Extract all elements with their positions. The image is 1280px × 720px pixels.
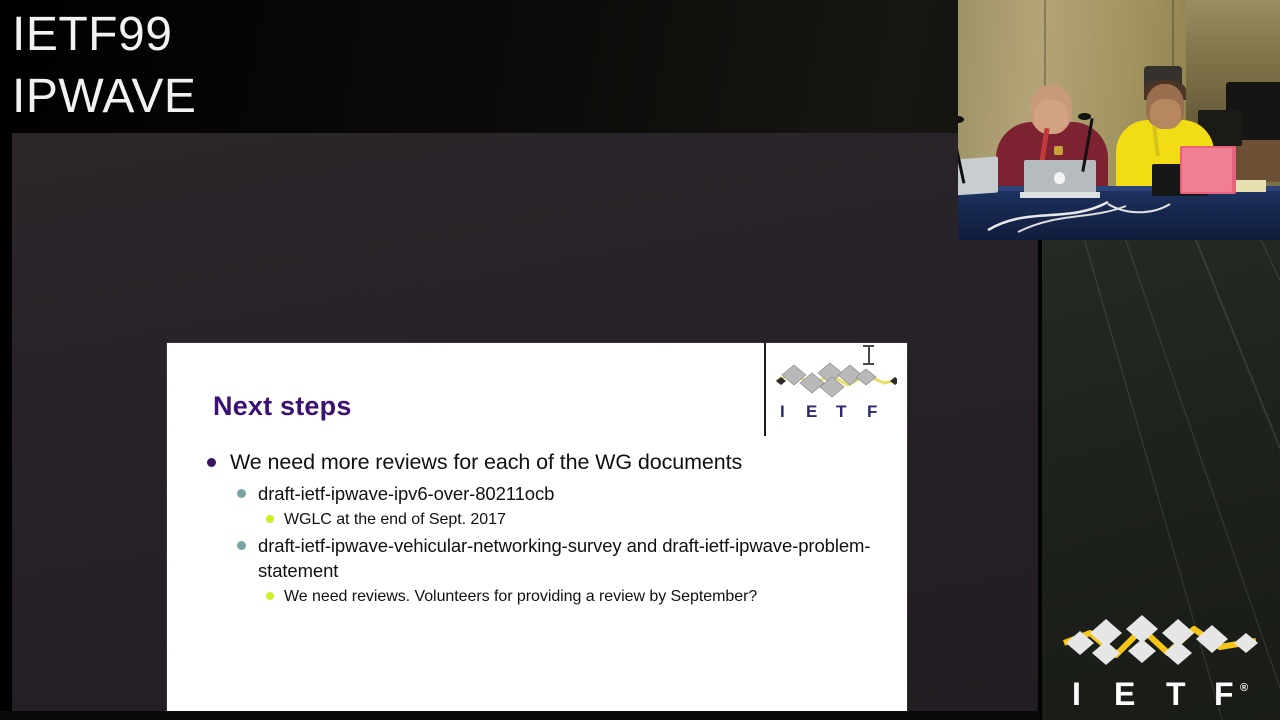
bullet-item: We need reviews. Volunteers for providin… [266, 585, 897, 608]
svg-text:T: T [1166, 676, 1187, 712]
page-title: IETF99 IPWAVE [12, 4, 196, 128]
svg-text:E: E [806, 402, 817, 421]
ietf-logo-icon: I E T F [772, 355, 897, 423]
bullet-marker-level2 [237, 489, 246, 498]
svg-text:F: F [867, 402, 877, 421]
apple-logo-icon [1054, 172, 1065, 184]
screen-root: IETF99 IPWAVE [0, 0, 1280, 720]
slide-logo-divider [764, 343, 766, 436]
presentation-slide[interactable]: I E T F Next steps We need more reviews … [167, 343, 907, 720]
bullet-text: WGLC at the end of Sept. 2017 [284, 508, 506, 531]
svg-text:E: E [1114, 676, 1136, 712]
svg-text:®: ® [1240, 682, 1249, 694]
ietf-brand-logo-icon: I E T F ® [1060, 607, 1265, 712]
bullet-item: draft-ietf-ipwave-ipv6-over-80211ocb [237, 481, 897, 506]
bullet-marker-level1 [207, 458, 216, 467]
slide-title: Next steps [213, 391, 352, 422]
bullet-item: draft-ietf-ipwave-vehicular-networking-s… [237, 533, 897, 583]
bullet-marker-level3 [266, 515, 274, 523]
presenter-two-face [1150, 99, 1181, 129]
panel-bottom-edge [0, 711, 1040, 720]
presenter-one-shirt-logo [1054, 146, 1063, 155]
cables [958, 190, 1280, 234]
bullet-text: draft-ietf-ipwave-ipv6-over-80211ocb [258, 481, 554, 506]
svg-text:F: F [1214, 676, 1235, 712]
bullet-item: WGLC at the end of Sept. 2017 [266, 508, 897, 531]
panel-left-edge [0, 133, 12, 720]
bullet-text: We need reviews. Volunteers for providin… [284, 585, 757, 608]
presenter-one-face [1034, 100, 1068, 134]
cursor-stem [868, 346, 870, 364]
svg-text:T: T [836, 402, 847, 421]
slide-body: We need more reviews for each of the WG … [207, 448, 897, 610]
laptop-pink-screen [1182, 148, 1232, 192]
presenter-video-feed[interactable] [958, 0, 1280, 240]
text-cursor-icon [863, 345, 874, 365]
svg-text:I: I [780, 402, 785, 421]
microphone-head-icon [1078, 113, 1091, 120]
bullet-text: draft-ietf-ipwave-vehicular-networking-s… [258, 533, 897, 583]
bullet-item: We need more reviews for each of the WG … [207, 448, 897, 477]
svg-text:I: I [1072, 676, 1082, 712]
slide-viewport[interactable]: I E T F Next steps We need more reviews … [12, 133, 1038, 711]
bullet-marker-level3 [266, 592, 274, 600]
bullet-marker-level2 [237, 541, 246, 550]
bullet-text: We need more reviews for each of the WG … [230, 448, 742, 477]
